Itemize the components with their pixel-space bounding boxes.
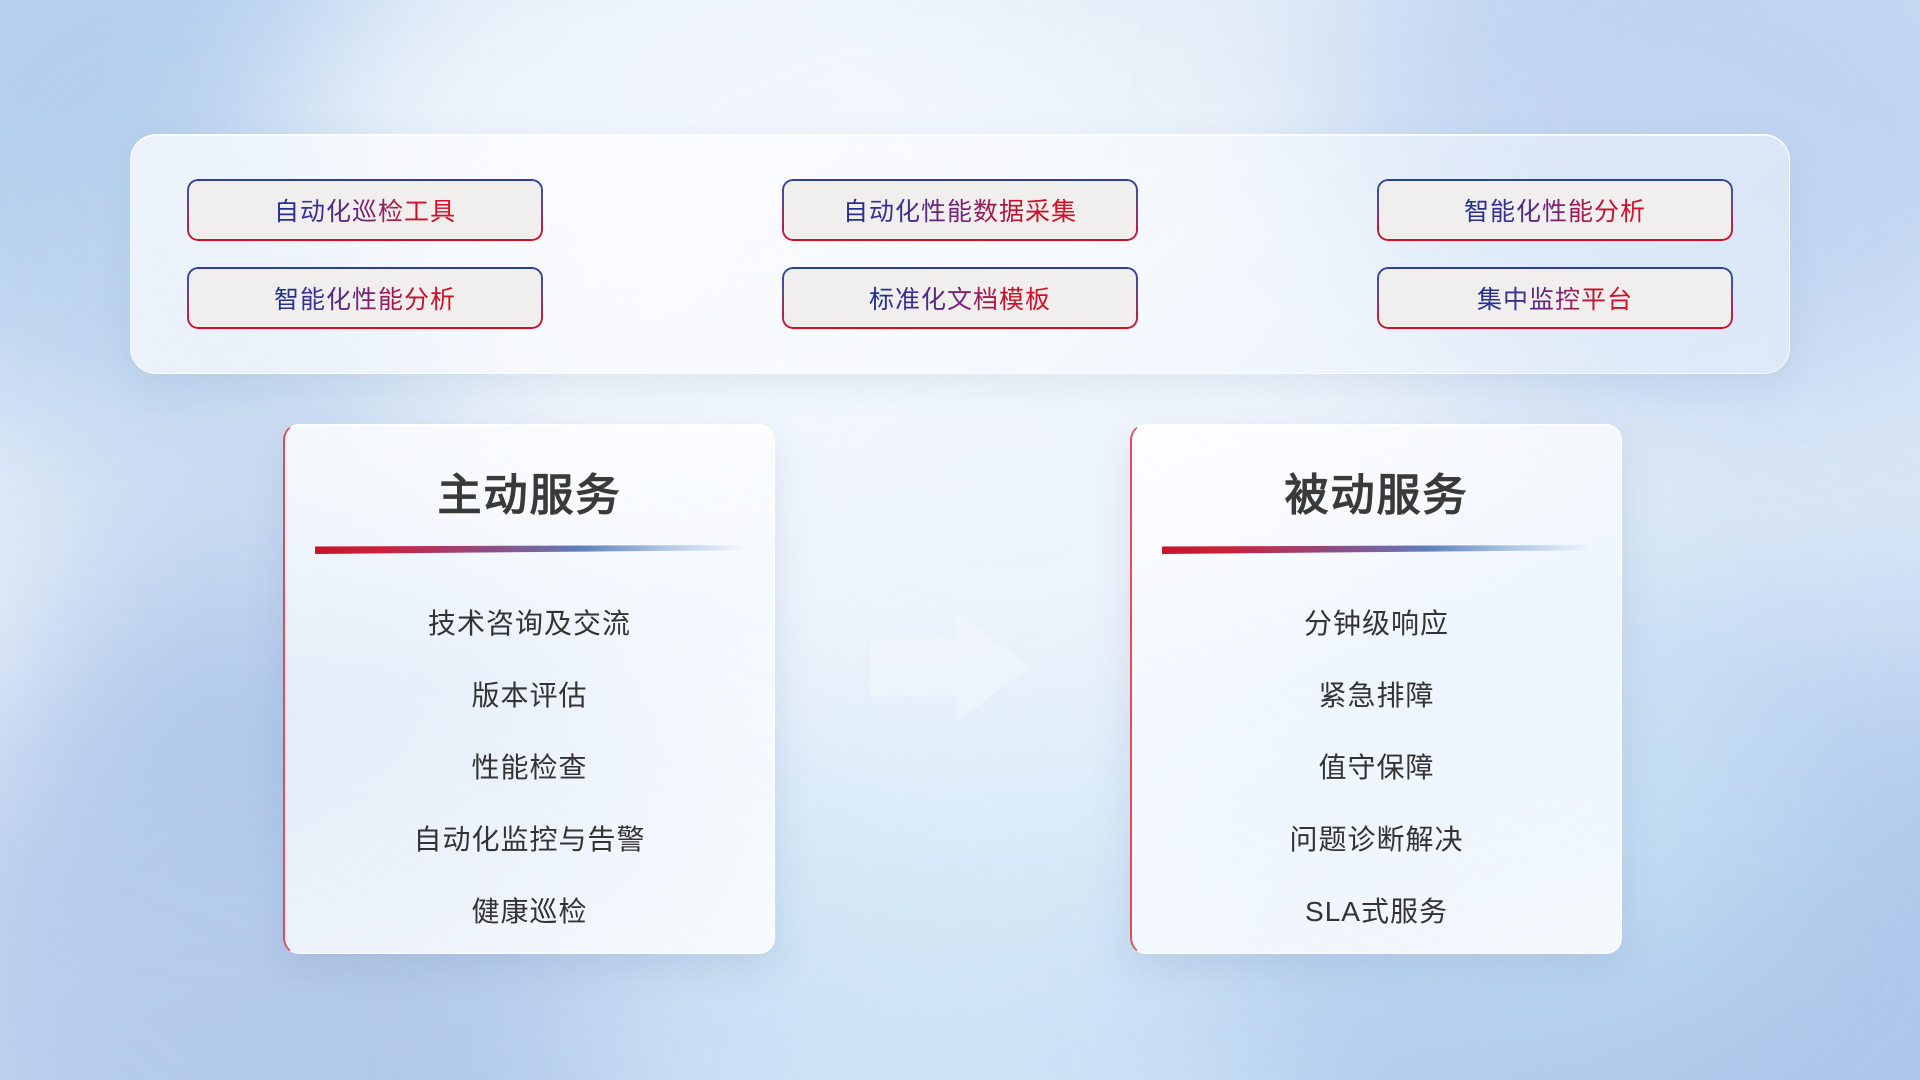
card-item-list: 分钟级响应 紧急排障 值守保障 问题诊断解决 SLA式服务 <box>1132 588 1621 948</box>
card-list-item[interactable]: 性能检查 <box>285 732 774 804</box>
capability-tag[interactable]: 标准化文档模板 <box>782 267 1138 329</box>
card-title: 主动服务 <box>285 459 774 523</box>
card-item-list: 技术咨询及交流 版本评估 性能检查 自动化监控与告警 健康巡检 <box>285 588 774 948</box>
card-list-item[interactable]: 问题诊断解决 <box>1132 804 1621 876</box>
capabilities-row: 自动化巡检工具 自动化性能数据采集 智能化性能分析 <box>187 179 1733 241</box>
capability-tag-label: 自动化巡检工具 <box>274 192 456 228</box>
card-divider <box>1162 545 1592 554</box>
capability-tag[interactable]: 集中监控平台 <box>1377 267 1733 329</box>
capability-tag-label: 集中监控平台 <box>1477 280 1633 316</box>
capability-tag[interactable]: 智能化性能分析 <box>187 267 543 329</box>
capability-tag-label: 自动化性能数据采集 <box>843 192 1077 228</box>
capability-tag[interactable]: 智能化性能分析 <box>1377 179 1733 241</box>
capability-tag[interactable]: 自动化性能数据采集 <box>782 179 1138 241</box>
capabilities-panel: 自动化巡检工具 自动化性能数据采集 智能化性能分析 智能化性能分析 标准化文档模… <box>130 134 1790 374</box>
card-list-item[interactable]: 自动化监控与告警 <box>285 804 774 876</box>
service-card-proactive: 主动服务 技术咨询及交流 版本评估 性能检查 自动化监控与告警 健康巡检 <box>283 424 775 954</box>
card-list-item[interactable]: 值守保障 <box>1132 732 1621 804</box>
card-list-item[interactable]: 版本评估 <box>285 660 774 732</box>
card-list-item[interactable]: SLA式服务 <box>1132 876 1621 948</box>
card-title: 被动服务 <box>1132 459 1621 523</box>
card-list-item[interactable]: 分钟级响应 <box>1132 588 1621 660</box>
capability-tag[interactable]: 自动化巡检工具 <box>187 179 543 241</box>
card-list-item[interactable]: 技术咨询及交流 <box>285 588 774 660</box>
card-list-item[interactable]: 紧急排障 <box>1132 660 1621 732</box>
card-list-item[interactable]: 健康巡检 <box>285 876 774 948</box>
capabilities-row: 智能化性能分析 标准化文档模板 集中监控平台 <box>187 267 1733 329</box>
capability-tag-label: 智能化性能分析 <box>274 280 456 316</box>
capability-tag-label: 标准化文档模板 <box>869 280 1051 316</box>
capability-tag-label: 智能化性能分析 <box>1464 192 1646 228</box>
service-card-reactive: 被动服务 分钟级响应 紧急排障 值守保障 问题诊断解决 SLA式服务 <box>1130 424 1622 954</box>
card-divider <box>315 545 745 554</box>
